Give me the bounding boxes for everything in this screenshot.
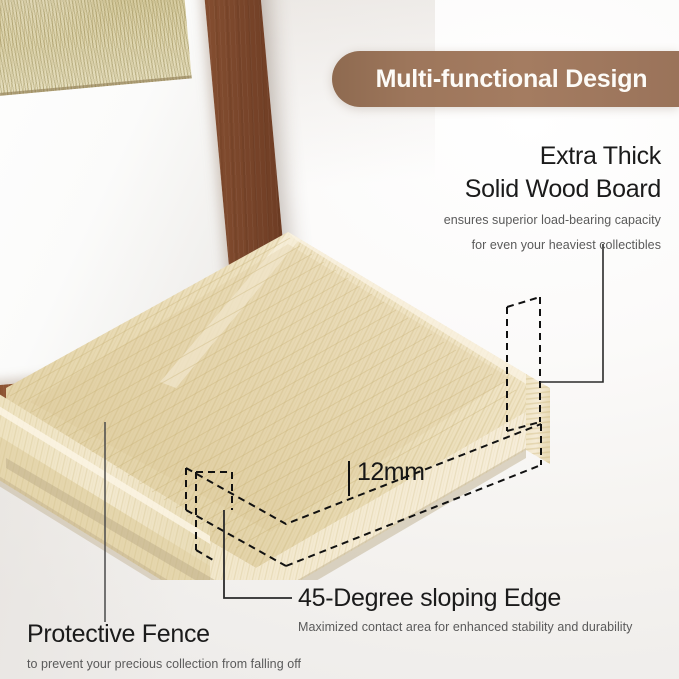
callout-title-line1: Protective Fence bbox=[27, 618, 301, 651]
callout-45-degree-sloping-edge: 45-Degree sloping Edge Maximized contact… bbox=[298, 582, 632, 636]
callout-title-line1: 45-Degree sloping Edge bbox=[298, 582, 632, 615]
callout-subtitle-line1: Maximized contact area for enhanced stab… bbox=[298, 619, 632, 637]
product-infographic: Multi-functional Design bbox=[0, 0, 679, 679]
title-banner: Multi-functional Design bbox=[332, 51, 679, 107]
photo-image bbox=[0, 0, 192, 99]
callout-subtitle-line1: ensures superior load-bearing capacity bbox=[444, 212, 661, 230]
callout-title-line2: Solid Wood Board bbox=[444, 173, 661, 206]
callout-title-line1: Extra Thick bbox=[444, 140, 661, 173]
callout-subtitle-line1: to prevent your precious collection from… bbox=[27, 656, 301, 674]
dimension-label-12mm: 12mm bbox=[357, 458, 424, 487]
photo-bottom-edge bbox=[0, 75, 192, 99]
callout-subtitle-line2: for even your heaviest collectibles bbox=[444, 237, 661, 255]
callout-protective-fence: Protective Fence to prevent your preciou… bbox=[27, 618, 301, 673]
banner-title: Multi-functional Design bbox=[364, 65, 648, 94]
callout-extra-thick-solid-wood-board: Extra Thick Solid Wood Board ensures sup… bbox=[444, 140, 661, 254]
